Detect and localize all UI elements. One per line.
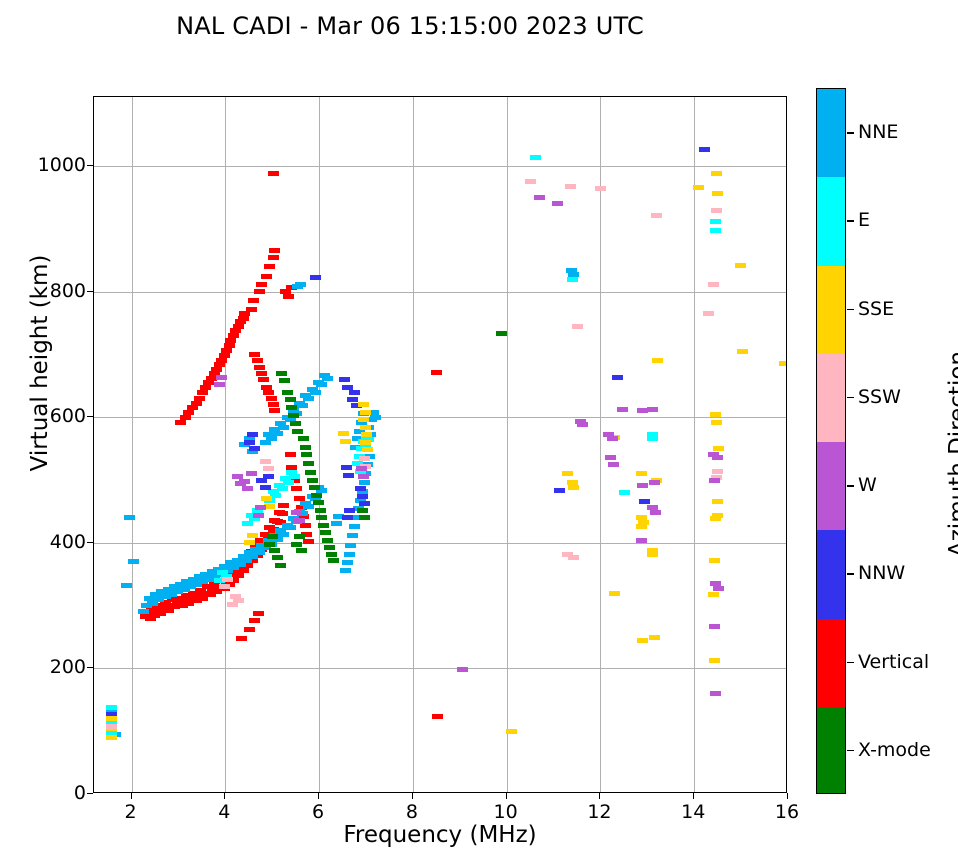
data-point [233, 598, 244, 603]
data-point [713, 446, 724, 451]
data-point [228, 333, 239, 338]
data-point [637, 483, 648, 488]
data-point [339, 377, 350, 382]
data-point [224, 343, 235, 348]
data-point [370, 415, 381, 420]
data-point [200, 385, 211, 390]
data-point [301, 452, 312, 457]
data-point [232, 474, 243, 479]
data-point [311, 493, 322, 498]
data-point [247, 432, 258, 437]
data-point [269, 248, 280, 253]
data-point [713, 586, 724, 591]
data-point [268, 402, 279, 407]
data-point [248, 298, 259, 303]
data-point [252, 358, 263, 363]
data-point [712, 191, 723, 196]
data-point [249, 618, 260, 623]
ionogram-figure: NAL CADI - Mar 06 15:15:00 2023 UTC 2468… [0, 0, 958, 857]
data-point [263, 466, 274, 471]
data-point [249, 352, 260, 357]
data-point [322, 538, 333, 543]
data-point [219, 584, 230, 589]
data-point [316, 382, 327, 387]
data-point [268, 255, 279, 260]
data-point [253, 611, 264, 616]
data-point [242, 486, 253, 491]
colorbar-label-ssw: SSW [858, 386, 901, 408]
data-point [277, 486, 288, 491]
data-point [253, 513, 264, 518]
data-point [357, 508, 368, 513]
data-point [568, 485, 579, 490]
data-point [649, 635, 660, 640]
data-point [219, 353, 230, 358]
colorbar-label-x-mode: X-mode [858, 739, 931, 761]
data-point [272, 555, 283, 560]
data-point [128, 559, 139, 564]
data-point [244, 440, 255, 445]
data-point [266, 396, 277, 401]
data-point [639, 499, 650, 504]
data-point [244, 627, 255, 632]
data-point [283, 294, 294, 299]
data-point [612, 375, 623, 380]
data-point [316, 515, 327, 520]
data-point [554, 488, 565, 493]
data-point [106, 705, 117, 710]
data-point [246, 471, 257, 476]
colorbar-segment-vertical[interactable] [817, 619, 845, 707]
data-point [291, 510, 302, 515]
data-point [238, 568, 249, 573]
data-point [260, 459, 271, 464]
data-point [214, 382, 225, 387]
data-point [345, 543, 356, 548]
data-point [647, 552, 658, 557]
data-point [577, 422, 588, 427]
y-axis-title: Virtual height (km) [27, 143, 53, 583]
data-point [344, 508, 355, 513]
data-point [289, 474, 300, 479]
data-point [703, 311, 714, 316]
x-tick-label: 4 [218, 801, 230, 823]
data-point [342, 560, 353, 565]
data-point [267, 534, 278, 539]
data-point [264, 542, 275, 547]
colorbar-tick [847, 662, 854, 663]
page-title: NAL CADI - Mar 06 15:15:00 2023 UTC [0, 12, 820, 40]
data-point [711, 171, 722, 176]
x-tick [224, 793, 225, 799]
data-point [216, 375, 227, 380]
colorbar-label-vertical: Vertical [858, 651, 929, 673]
colorbar-label-w: W [858, 474, 877, 496]
data-point [637, 638, 648, 643]
data-point [636, 524, 647, 529]
data-point [708, 282, 719, 287]
plot-area[interactable] [93, 96, 787, 793]
data-point [356, 466, 367, 471]
data-point [291, 486, 302, 491]
data-point [651, 213, 662, 218]
data-point [264, 264, 275, 269]
data-point [138, 609, 149, 614]
colorbar-segment-nne[interactable] [817, 89, 845, 177]
data-point [609, 591, 620, 596]
data-point [310, 275, 321, 280]
data-point [359, 515, 370, 520]
colorbar-title: Azimuth Direction [945, 274, 958, 634]
data-point [710, 228, 721, 233]
data-point [175, 420, 186, 425]
data-point [124, 515, 135, 520]
data-point [286, 405, 297, 410]
colorbar[interactable] [816, 88, 846, 794]
data-point [360, 440, 371, 445]
data-point [650, 510, 661, 515]
data-point [636, 538, 647, 543]
colorbar-tick [847, 573, 854, 574]
data-point [607, 436, 618, 441]
x-tick-label: 2 [124, 801, 136, 823]
data-point [362, 447, 373, 452]
data-point [197, 390, 208, 395]
data-point [272, 431, 283, 436]
colorbar-label-nnw: NNW [858, 562, 905, 584]
data-point [318, 523, 329, 528]
data-point [276, 371, 287, 376]
colorbar-tick [847, 220, 854, 221]
data-point [303, 396, 314, 401]
scatter-data-layer [94, 97, 786, 792]
y-tick-label: 400 [50, 531, 86, 553]
data-point [357, 494, 368, 499]
data-point [568, 555, 579, 560]
data-point [263, 474, 274, 479]
data-point [254, 365, 265, 370]
data-point [709, 478, 720, 483]
data-point [530, 155, 541, 160]
y-tick-label: 600 [50, 405, 86, 427]
data-point [106, 724, 117, 729]
data-point [617, 407, 628, 412]
data-point [305, 470, 316, 475]
data-point [361, 432, 372, 437]
data-point [693, 185, 704, 190]
data-point [266, 436, 277, 441]
data-point [432, 714, 443, 719]
data-point [572, 324, 583, 329]
x-axis-title: Frequency (MHz) [93, 822, 787, 848]
y-tick [87, 542, 93, 543]
data-point [258, 377, 269, 382]
colorbar-label-nne: NNE [858, 121, 898, 143]
data-point [194, 396, 205, 401]
data-point [358, 417, 369, 422]
y-tick-label: 200 [50, 656, 86, 678]
data-point [712, 469, 723, 474]
x-tick-label: 8 [406, 801, 418, 823]
data-point [355, 486, 366, 491]
data-point [534, 195, 545, 200]
data-point [710, 219, 721, 224]
data-point [278, 425, 289, 430]
data-point [222, 577, 233, 582]
data-point [342, 515, 353, 520]
data-point [709, 658, 720, 663]
data-point [709, 624, 720, 629]
data-point [242, 521, 253, 526]
data-point [298, 436, 309, 441]
data-point [431, 370, 442, 375]
data-point [211, 367, 222, 372]
data-point [322, 376, 333, 381]
data-point [608, 462, 619, 467]
data-point [256, 371, 267, 376]
data-point [269, 548, 280, 553]
data-point [506, 729, 517, 734]
data-point [235, 481, 246, 486]
data-point [735, 263, 746, 268]
x-tick-label: 14 [681, 801, 705, 823]
data-point [328, 558, 339, 563]
data-point [326, 552, 337, 557]
data-point [254, 550, 265, 555]
data-point [275, 563, 286, 568]
data-point [347, 533, 358, 538]
x-tick-label: 6 [312, 801, 324, 823]
data-point [307, 478, 318, 483]
data-point [288, 413, 299, 418]
data-point [358, 474, 369, 479]
data-point [296, 548, 307, 553]
data-point [647, 407, 658, 412]
data-point [343, 473, 354, 478]
data-point [309, 485, 320, 490]
data-point [285, 452, 296, 457]
colorbar-segment-nnw[interactable] [817, 530, 845, 618]
y-tick [87, 165, 93, 166]
data-point [360, 425, 371, 430]
data-point [711, 420, 722, 425]
colorbar-tick [847, 309, 854, 310]
data-point [269, 408, 280, 413]
data-point [285, 397, 296, 402]
data-point [292, 429, 303, 434]
data-point [605, 455, 616, 460]
data-point [637, 408, 648, 413]
data-point [106, 735, 117, 740]
data-point [342, 385, 353, 390]
data-point [225, 338, 236, 343]
data-point [315, 508, 326, 513]
data-point [562, 471, 573, 476]
colorbar-tick [847, 485, 854, 486]
colorbar-tick [847, 132, 854, 133]
data-point [359, 480, 370, 485]
y-tick [87, 793, 93, 794]
data-point [249, 446, 260, 451]
data-point [294, 518, 305, 523]
data-point [221, 348, 232, 353]
colorbar-segment-e[interactable] [817, 177, 845, 265]
data-point [295, 282, 306, 287]
data-point [285, 525, 296, 530]
data-point [710, 516, 721, 521]
x-tick [693, 793, 694, 799]
data-point [261, 496, 272, 501]
data-point [652, 358, 663, 363]
data-point [340, 568, 351, 573]
data-point [359, 501, 370, 506]
data-point [246, 307, 257, 312]
data-point [290, 421, 301, 426]
colorbar-segment-sse[interactable] [817, 266, 845, 354]
data-point [358, 402, 369, 407]
data-point [360, 410, 371, 415]
data-point [320, 530, 331, 535]
data-point [180, 415, 191, 420]
data-point [247, 533, 258, 538]
data-point [699, 147, 710, 152]
data-point [297, 403, 308, 408]
data-point [260, 485, 271, 490]
data-point [324, 545, 335, 550]
colorbar-label-e: E [858, 209, 870, 231]
data-point [183, 410, 194, 415]
data-point [619, 490, 630, 495]
colorbar-segment-w[interactable] [817, 442, 845, 530]
data-point [331, 521, 342, 526]
data-point [709, 558, 720, 563]
data-point [649, 480, 660, 485]
data-point [565, 184, 576, 189]
data-point [525, 179, 536, 184]
x-tick [412, 793, 413, 799]
data-point [270, 493, 281, 498]
data-point [191, 401, 202, 406]
data-point [340, 439, 351, 444]
data-point [710, 691, 721, 696]
data-point [278, 503, 289, 508]
data-point [779, 361, 787, 366]
data-point [338, 431, 349, 436]
data-point [708, 592, 719, 597]
x-tick [506, 793, 507, 799]
colorbar-label-sse: SSE [858, 298, 894, 320]
data-point [567, 480, 578, 485]
data-point [216, 358, 227, 363]
y-tick-label: 800 [50, 280, 86, 302]
data-point [711, 208, 722, 213]
x-tick [318, 793, 319, 799]
data-point [233, 324, 244, 329]
data-point [255, 505, 266, 510]
data-point [567, 277, 578, 282]
data-point [291, 542, 302, 547]
data-point [277, 511, 288, 516]
x-tick-label: 10 [494, 801, 518, 823]
data-point [238, 316, 249, 321]
data-point [106, 716, 117, 721]
data-point [496, 331, 507, 336]
data-point [712, 455, 723, 460]
data-point [552, 201, 563, 206]
colorbar-segment-ssw[interactable] [817, 354, 845, 442]
data-point [313, 500, 324, 505]
x-tick-label: 16 [775, 801, 799, 823]
data-point [341, 465, 352, 470]
data-point [310, 390, 321, 395]
data-point [349, 524, 360, 529]
y-tick [87, 291, 93, 292]
x-tick [599, 793, 600, 799]
x-tick [131, 793, 132, 799]
y-tick [87, 667, 93, 668]
data-point [278, 532, 289, 537]
y-tick [87, 416, 93, 417]
colorbar-tick [847, 397, 854, 398]
data-point [303, 461, 314, 466]
data-point [737, 349, 748, 354]
data-point [595, 186, 606, 191]
data-point [121, 583, 132, 588]
data-point [254, 289, 265, 294]
data-point [256, 282, 267, 287]
data-point [300, 445, 311, 450]
data-point [294, 534, 305, 539]
data-point [279, 378, 290, 383]
data-point [236, 636, 247, 641]
x-tick [787, 793, 788, 799]
data-point [457, 667, 468, 672]
data-point [710, 412, 721, 417]
data-point [349, 390, 360, 395]
y-tick-label: 0 [74, 782, 86, 804]
data-point [636, 471, 647, 476]
colorbar-segment-x-mode[interactable] [817, 707, 845, 794]
data-point [283, 480, 294, 485]
colorbar-tick [847, 750, 854, 751]
data-point [268, 171, 279, 176]
data-point [261, 274, 272, 279]
data-point [359, 456, 370, 461]
data-point [244, 540, 255, 545]
data-point [263, 390, 274, 395]
x-tick-label: 12 [587, 801, 611, 823]
data-point [712, 499, 723, 504]
data-point [303, 539, 314, 544]
data-point [344, 552, 355, 557]
data-point [647, 436, 658, 441]
data-point [282, 390, 293, 395]
data-point [233, 573, 244, 578]
